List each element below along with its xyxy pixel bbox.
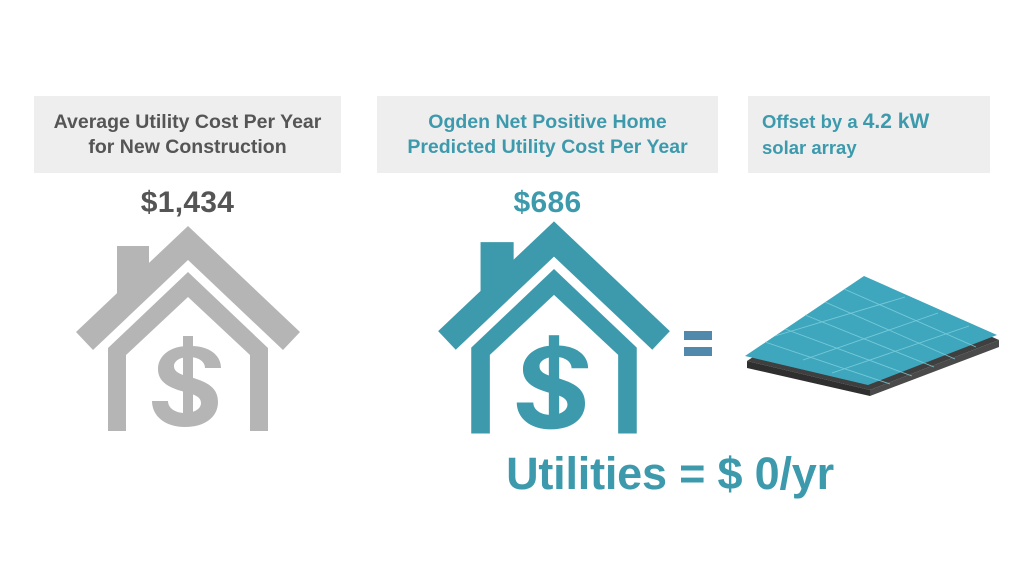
panel-label-text: Ogden Net Positive Home Predicted Utilit…: [399, 110, 696, 160]
dollar-sign-glyph: [152, 336, 221, 427]
label-tail: solar array: [762, 137, 857, 158]
panel-label-solar-offset: Offset by a 4.2 kW solar array: [748, 96, 990, 173]
utilities-headline: Utilities = $ 0/yr: [430, 448, 910, 500]
panel-label-average-cost: Average Utility Cost Per Year for New Co…: [34, 96, 341, 173]
label-emphasis: 4.2 kW: [863, 110, 930, 133]
panel-value-ogden-net-positive: $686: [377, 186, 718, 220]
equals-bar-bottom: [684, 347, 712, 356]
label-lead: Offset by a: [762, 111, 863, 132]
panel-label-ogden-net-positive: Ogden Net Positive Home Predicted Utilit…: [377, 96, 718, 173]
infographic-canvas: Average Utility Cost Per Year for New Co…: [0, 0, 1024, 576]
panel-label-text: Average Utility Cost Per Year for New Co…: [48, 110, 327, 160]
house-dollar-icon-gray: [72, 224, 304, 436]
panel-label-text: Offset by a 4.2 kW solar array: [762, 109, 976, 160]
dollar-sign-glyph: [517, 335, 588, 429]
solar-panel-icon: [742, 268, 1004, 396]
equals-bar-top: [684, 331, 712, 340]
equals-sign-icon: [684, 328, 716, 360]
panel-value-average-cost: $1,434: [34, 186, 341, 220]
house-dollar-icon-teal: [434, 219, 674, 439]
